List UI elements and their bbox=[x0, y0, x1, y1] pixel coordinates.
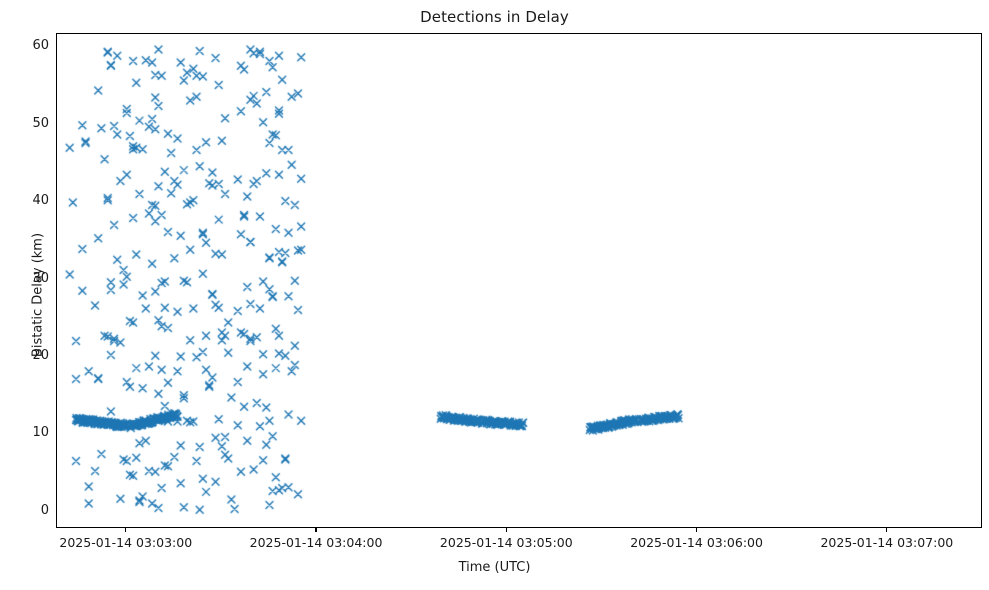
y-tick-label: 60 bbox=[32, 38, 49, 53]
x-axis-label: Time (UTC) bbox=[0, 560, 989, 575]
x-tick-mark bbox=[125, 528, 126, 532]
plot-area bbox=[56, 33, 982, 528]
x-tick-mark bbox=[886, 528, 887, 532]
y-tick-label: 30 bbox=[32, 271, 49, 286]
scatter-canvas bbox=[57, 34, 982, 528]
y-tick-label: 50 bbox=[32, 116, 49, 131]
x-tick-label: 2025-01-14 03:05:00 bbox=[440, 535, 573, 550]
y-tick-label: 40 bbox=[32, 193, 49, 208]
chart-title: Detections in Delay bbox=[0, 8, 989, 26]
x-tick-label: 2025-01-14 03:03:00 bbox=[59, 535, 192, 550]
x-tick-label: 2025-01-14 03:06:00 bbox=[630, 535, 763, 550]
detections-in-delay-figure: Detections in Delay Bistatic Delay (km) … bbox=[0, 0, 989, 590]
y-axis-ticks: 0102030405060 bbox=[0, 0, 56, 590]
y-tick-label: 20 bbox=[32, 348, 49, 363]
x-tick-mark bbox=[696, 528, 697, 532]
x-tick-mark bbox=[315, 528, 316, 532]
x-tick-label: 2025-01-14 03:07:00 bbox=[820, 535, 953, 550]
y-tick-label: 0 bbox=[41, 503, 49, 518]
x-tick-label: 2025-01-14 03:04:00 bbox=[250, 535, 383, 550]
x-axis-ticks: 2025-01-14 03:03:002025-01-14 03:04:0020… bbox=[0, 528, 989, 590]
x-tick-mark bbox=[506, 528, 507, 532]
y-tick-label: 10 bbox=[32, 425, 49, 440]
